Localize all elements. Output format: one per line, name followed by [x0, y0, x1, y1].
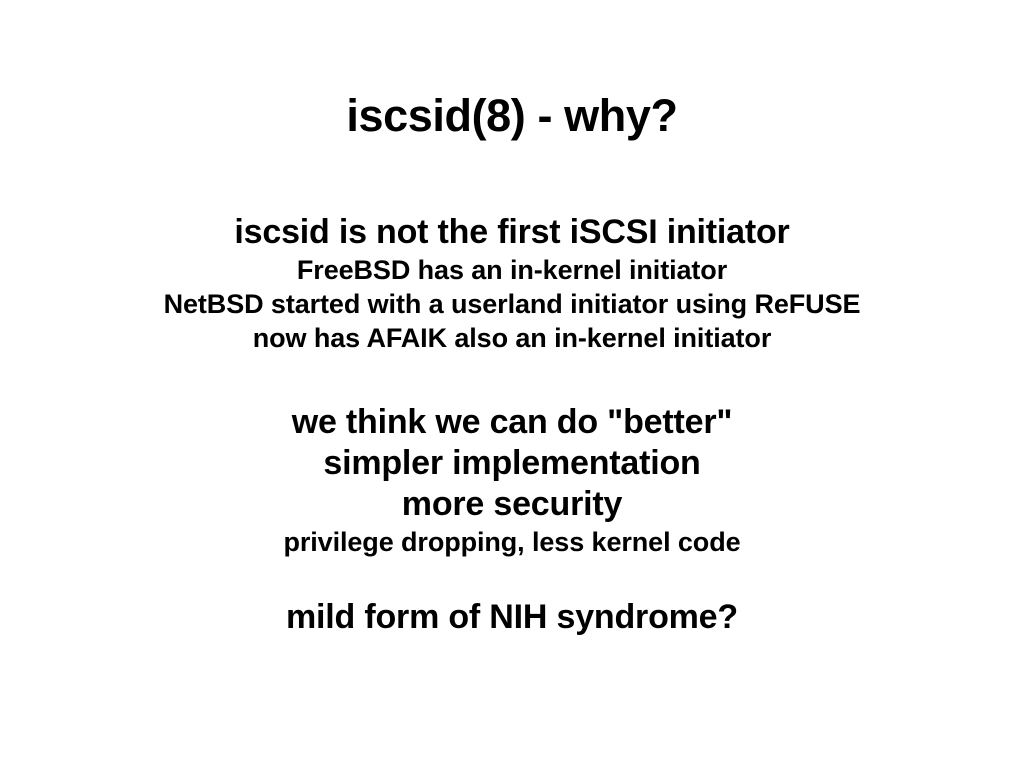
content-line: NetBSD started with a userland initiator… [0, 287, 1024, 321]
content-line: iscsid is not the first iSCSI initiator [0, 212, 1024, 253]
content-line: privilege dropping, less kernel code [0, 525, 1024, 559]
block-spacer [0, 355, 1024, 402]
content-line: simpler implementation [0, 443, 1024, 484]
slide-body: iscsid is not the first iSCSI initiator … [0, 212, 1024, 638]
block-spacer [0, 559, 1024, 597]
slide-title: iscsid(8) - why? [0, 92, 1024, 140]
content-line: mild form of NIH syndrome? [0, 597, 1024, 638]
slide: iscsid(8) - why? iscsid is not the first… [0, 0, 1024, 768]
content-line: FreeBSD has an in-kernel initiator [0, 253, 1024, 287]
content-line: we think we can do "better" [0, 402, 1024, 443]
content-block-closing-question: mild form of NIH syndrome? [0, 597, 1024, 638]
content-block-existing-initiators: iscsid is not the first iSCSI initiator … [0, 212, 1024, 355]
content-block-motivation: we think we can do "better" simpler impl… [0, 402, 1024, 559]
content-line: more security [0, 484, 1024, 525]
content-line: now has AFAIK also an in-kernel initiato… [0, 321, 1024, 355]
